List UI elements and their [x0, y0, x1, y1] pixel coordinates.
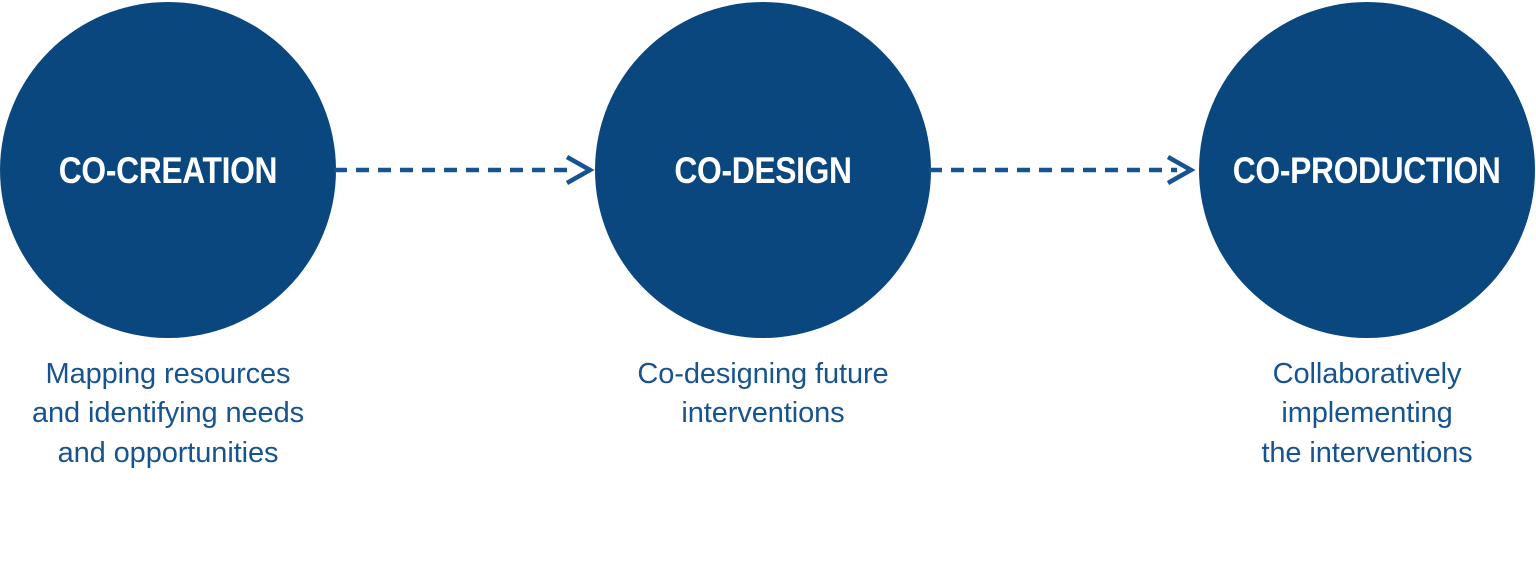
circle-label-co-design: CO-DESIGN [674, 152, 851, 189]
caption-line: and identifying needs [0, 394, 336, 433]
arrow-co-design-to-co-production [929, 150, 1203, 190]
caption-line: Co-designing future [575, 355, 951, 394]
circle-co-design[interactable]: CO-DESIGN [595, 2, 931, 338]
process-flow-diagram: CO-CREATION Mapping resources and identi… [0, 0, 1536, 564]
caption-co-production: Collaboratively implementing the interve… [1199, 355, 1535, 473]
caption-line: Mapping resources [0, 355, 336, 394]
caption-line: interventions [575, 394, 951, 433]
caption-line: and opportunities [0, 434, 336, 473]
arrowhead-chevron-icon [567, 157, 590, 183]
caption-line: Collaboratively [1199, 355, 1535, 394]
circle-co-production[interactable]: CO-PRODUCTION [1199, 2, 1535, 338]
caption-line: implementing [1199, 394, 1535, 433]
circle-label-co-creation: CO-CREATION [59, 152, 277, 189]
arrow-co-creation-to-co-design [334, 150, 600, 190]
circle-co-creation[interactable]: CO-CREATION [0, 2, 336, 338]
caption-co-creation: Mapping resources and identifying needs … [0, 355, 336, 473]
caption-co-design: Co-designing future interventions [575, 355, 951, 434]
caption-line: the interventions [1199, 434, 1535, 473]
circle-label-co-production: CO-PRODUCTION [1233, 152, 1501, 189]
